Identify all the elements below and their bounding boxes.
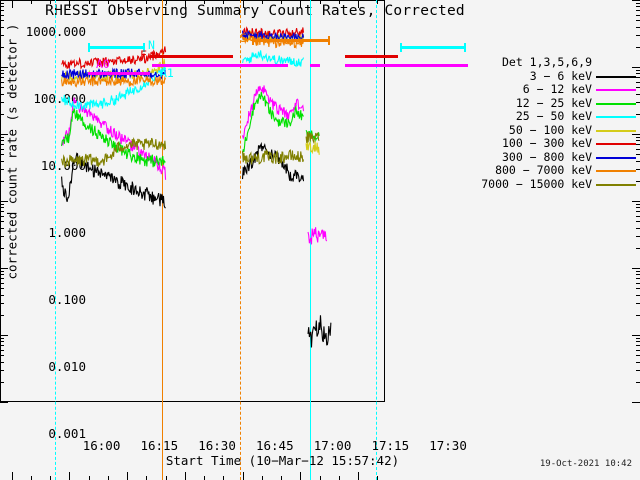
legend-entry: 7000 − 15000 keV bbox=[480, 178, 638, 192]
legend-color-swatch bbox=[596, 170, 636, 172]
legend-label: 100 − 300 keV bbox=[502, 137, 592, 151]
rhessi-plot-page: RHESSI Observing Summary Count Rates, Co… bbox=[0, 0, 640, 480]
legend-label: 25 − 50 keV bbox=[516, 110, 592, 124]
series-line bbox=[243, 150, 304, 164]
attenuator-state-0-bar bbox=[310, 64, 320, 67]
series-line bbox=[308, 227, 327, 244]
flare-bar bbox=[150, 55, 233, 58]
attenuator-state-0-bar bbox=[345, 64, 468, 67]
x-axis-title: Start Time (10−Mar−12 15:57:42) bbox=[90, 453, 475, 468]
flare-bar bbox=[345, 55, 398, 58]
legend-label: 50 − 100 keV bbox=[509, 124, 592, 138]
legend-label: 7000 − 15000 keV bbox=[481, 178, 592, 192]
legend-label: 12 − 25 keV bbox=[516, 97, 592, 111]
annotation-label: A0 bbox=[96, 59, 110, 70]
legend-entry: 6 − 12 keV bbox=[480, 83, 638, 97]
saa-bar-cap bbox=[252, 36, 254, 45]
x-tick-label: 17:30 bbox=[429, 438, 467, 453]
legend-entry: 12 − 25 keV bbox=[480, 97, 638, 111]
x-axis-labels: 16:0016:1516:3016:4517:0017:1517:30 bbox=[0, 438, 640, 454]
plot-canvas bbox=[0, 0, 385, 402]
attenuator-state-1-bar bbox=[88, 72, 150, 75]
series-line bbox=[306, 141, 319, 155]
x-tick-label: 17:00 bbox=[314, 438, 352, 453]
x-tick-label: 16:15 bbox=[140, 438, 178, 453]
x-tick-label: 16:45 bbox=[256, 438, 294, 453]
annotation-label: A1 bbox=[160, 68, 174, 79]
legend-color-swatch bbox=[596, 103, 636, 105]
legend-color-swatch bbox=[596, 89, 636, 91]
legend-entry: 300 − 800 keV bbox=[480, 151, 638, 165]
saa-bar bbox=[252, 39, 330, 42]
x-tick-label: 17:15 bbox=[371, 438, 409, 453]
series-line bbox=[306, 132, 319, 143]
annotation-label: N bbox=[148, 40, 155, 51]
night-bar-cap bbox=[464, 43, 466, 52]
series-line bbox=[62, 97, 166, 179]
series-line bbox=[308, 315, 331, 347]
legend-color-swatch bbox=[596, 130, 636, 132]
legend-detectors: Det 1,3,5,6,9 bbox=[480, 56, 638, 70]
legend-entry: 25 − 50 keV bbox=[480, 110, 638, 124]
legend-label: 6 − 12 keV bbox=[523, 83, 592, 97]
night-bar-cap bbox=[400, 43, 402, 52]
light-curve-series bbox=[0, 0, 385, 402]
night-bar-cap bbox=[88, 43, 90, 52]
saa-bar-cap bbox=[328, 36, 330, 45]
legend-entry: 50 − 100 keV bbox=[480, 124, 638, 138]
legend-color-swatch bbox=[596, 143, 636, 145]
legend: Det 1,3,5,6,9 3 − 6 keV6 − 12 keV12 − 25… bbox=[480, 56, 638, 191]
night-bar bbox=[400, 46, 466, 49]
annotation-label: F bbox=[140, 50, 147, 61]
legend-entry: 3 − 6 keV bbox=[480, 70, 638, 84]
plot-area bbox=[0, 0, 385, 402]
legend-entries: 3 − 6 keV6 − 12 keV12 − 25 keV25 − 50 ke… bbox=[480, 70, 638, 192]
legend-color-swatch bbox=[596, 157, 636, 159]
render-timestamp: 19-Oct-2021 10:42 bbox=[540, 459, 632, 469]
series-line bbox=[243, 92, 304, 153]
annotation-label: S bbox=[240, 33, 247, 44]
x-tick-label: 16:00 bbox=[83, 438, 121, 453]
legend-color-swatch bbox=[596, 76, 636, 78]
legend-label: 300 − 800 keV bbox=[502, 151, 592, 165]
legend-entry: 100 − 300 keV bbox=[480, 137, 638, 151]
legend-color-swatch bbox=[596, 184, 636, 186]
legend-color-swatch bbox=[596, 116, 636, 118]
series-line bbox=[62, 76, 166, 87]
night-bar bbox=[88, 46, 145, 49]
legend-label: 3 − 6 keV bbox=[530, 70, 592, 84]
x-tick-label: 16:30 bbox=[198, 438, 236, 453]
legend-entry: 800 − 7000 keV bbox=[480, 164, 638, 178]
legend-label: 800 − 7000 keV bbox=[495, 164, 592, 178]
